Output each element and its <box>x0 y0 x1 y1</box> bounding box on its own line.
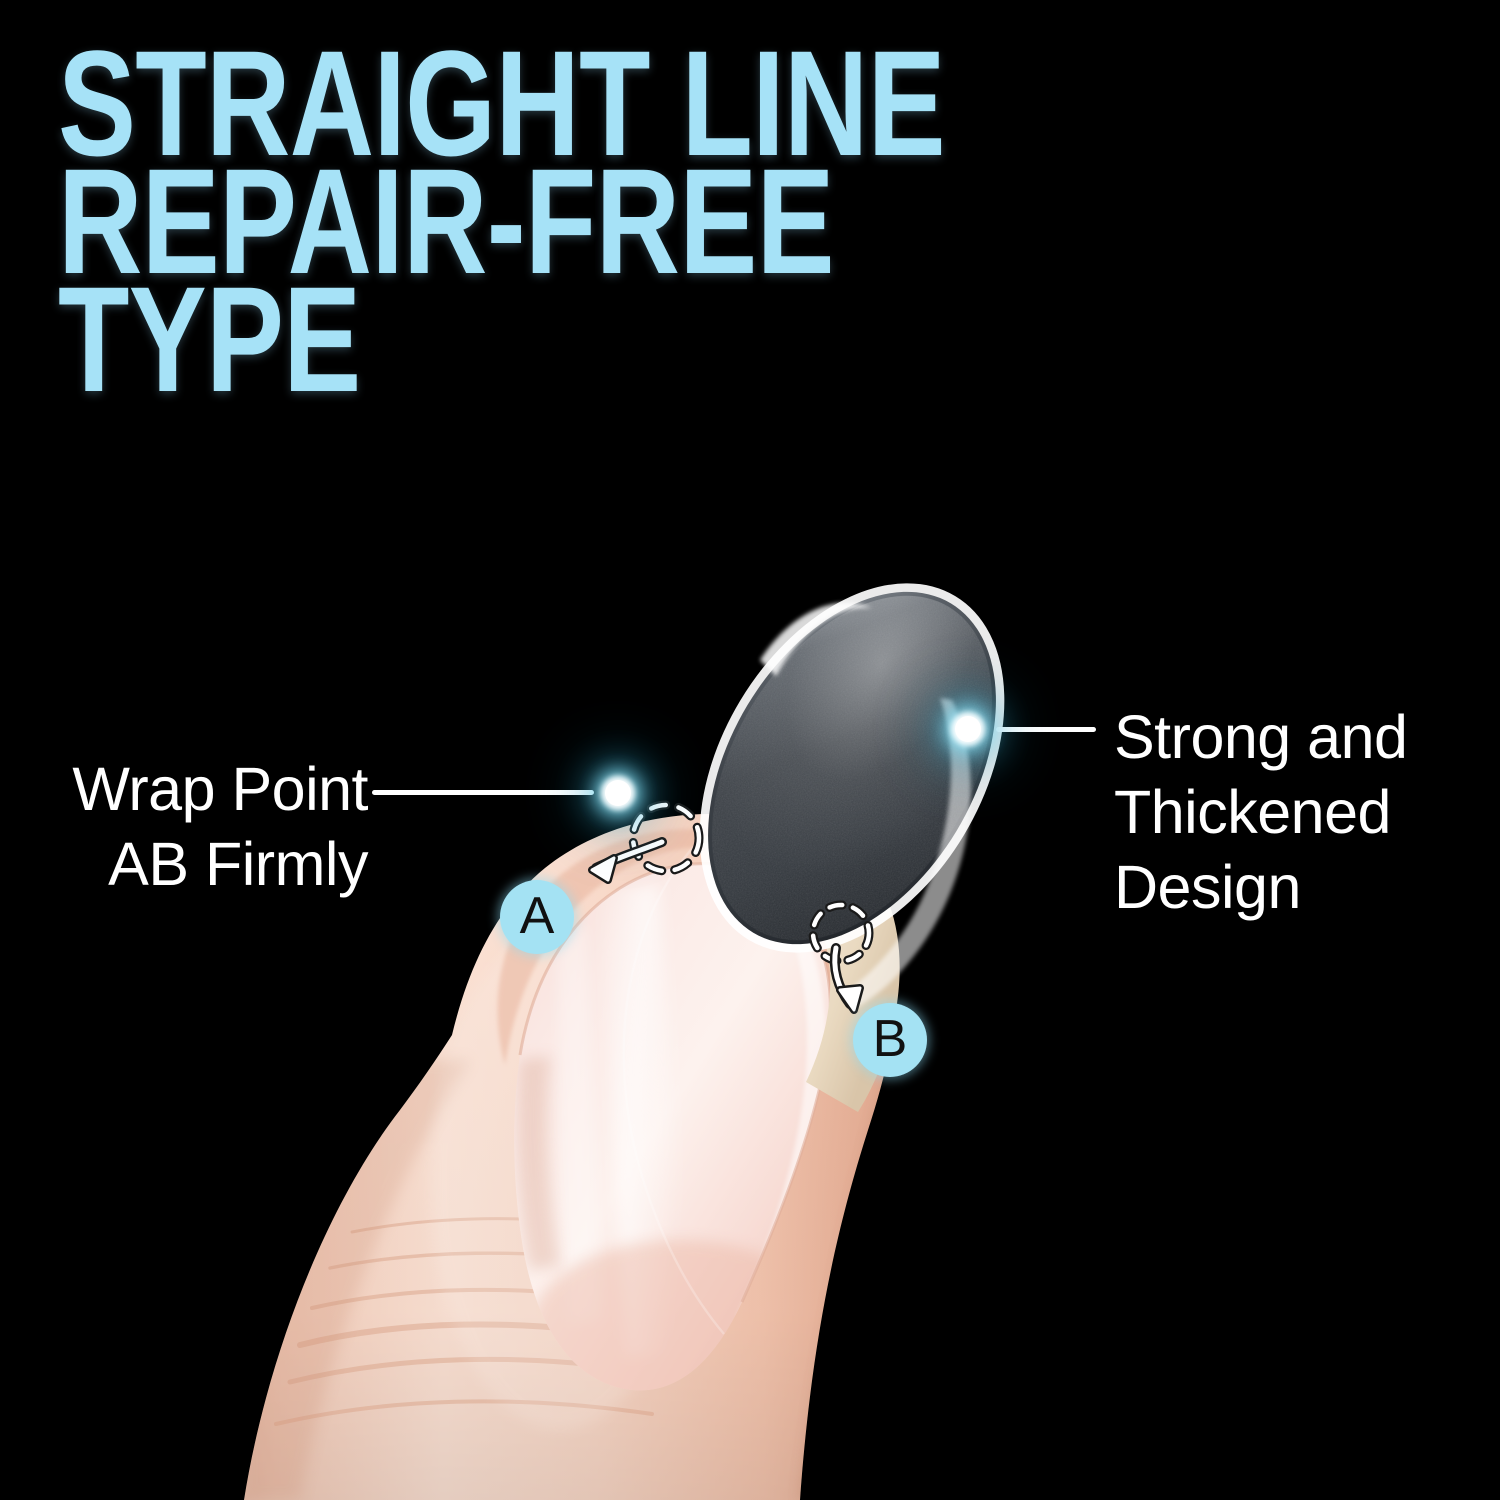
page-title: STRAIGHT LINE REPAIR-FREE TYPE <box>58 44 1150 398</box>
leader-line-left <box>372 790 594 795</box>
leader-line-right <box>996 727 1096 732</box>
callout-strong-thickened: Strong and Thickened Design <box>1114 700 1494 925</box>
product-feature-image: STRAIGHT LINE REPAIR-FREE TYPE Wrap Poin… <box>0 0 1500 1500</box>
glow-dot-icon-right <box>955 716 981 742</box>
callout-wrap-point: Wrap Point AB Firmly <box>0 752 368 902</box>
marker-badge-a: A <box>500 880 574 954</box>
callout-strong-line-1: Strong and <box>1114 700 1494 775</box>
headline-line-1: STRAIGHT LINE REPAIR-FREE <box>58 44 1150 280</box>
callout-strong-line-2: Thickened <box>1114 775 1494 850</box>
glow-dot-icon-left <box>605 780 631 806</box>
marker-badge-b: B <box>853 1003 927 1077</box>
callout-strong-line-3: Design <box>1114 850 1494 925</box>
callout-wrap-point-line-2: AB Firmly <box>0 827 368 902</box>
callout-wrap-point-line-1: Wrap Point <box>0 752 368 827</box>
